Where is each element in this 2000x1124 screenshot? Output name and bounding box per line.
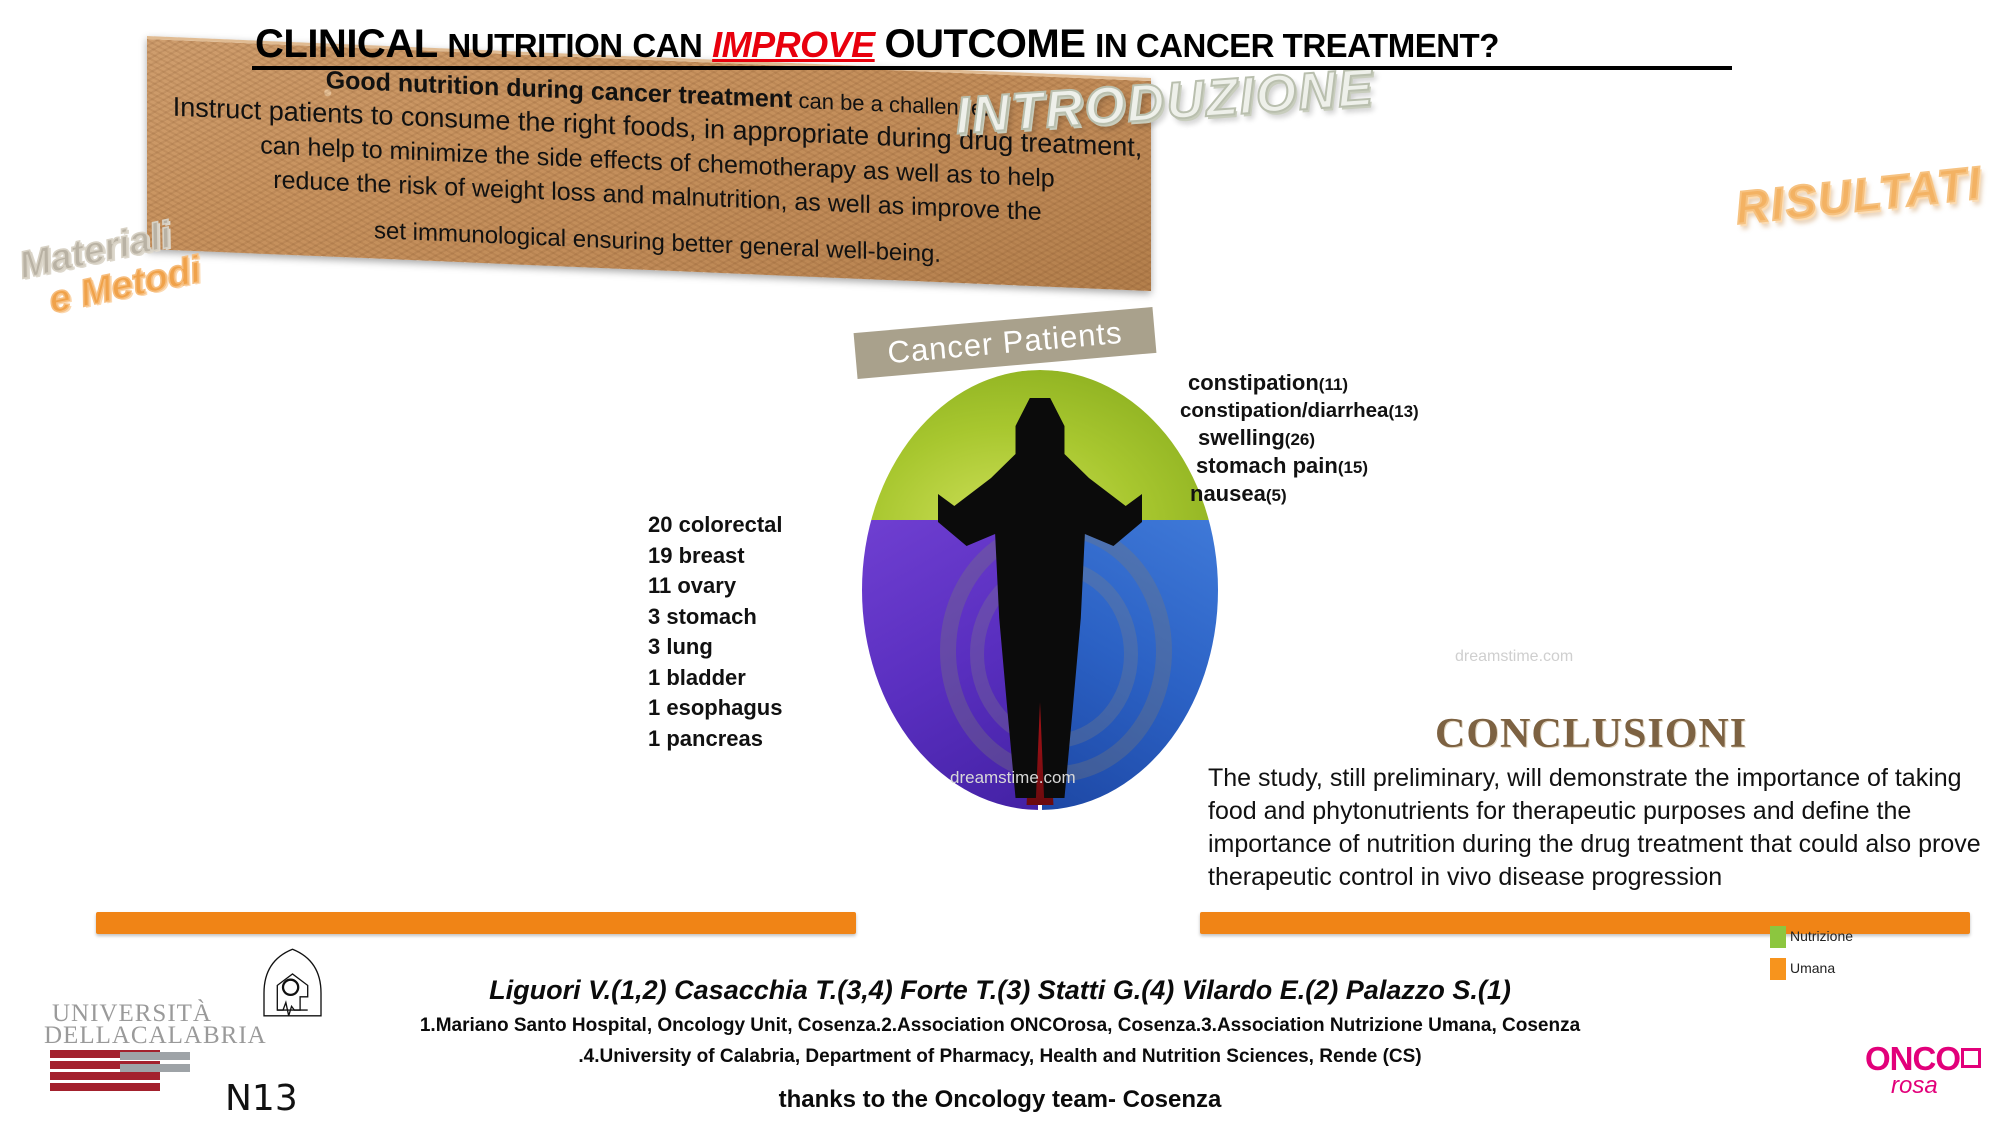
materiali-e-metodi-text: From October 2014 in Oncology-Unit of Co… — [8, 380, 608, 900]
title-part-5: IN CANCER TREATMENT? — [1095, 27, 1499, 64]
title-part-3: CAN — [632, 27, 702, 64]
title-underline — [252, 66, 1732, 70]
poster-root: XVII CONGRESSO NAZIONALE AIOM ROMA21-23O… — [0, 0, 2000, 1124]
cherry-tomato — [1800, 92, 1826, 118]
list-item: nausea(5) — [1180, 481, 1500, 509]
aiom-roman-numeral: XVII — [11, 11, 129, 22]
title-part-4: OUTCOME — [884, 22, 1085, 66]
symptom-count: (13) — [1388, 402, 1418, 421]
introduction-text: Good nutrition during cancer treatment c… — [160, 39, 1155, 287]
dreamstime-watermark: dreamstime.com — [950, 768, 1076, 788]
onco-square-icon — [1961, 1048, 1981, 1068]
symptom-count: (11) — [1319, 375, 1348, 394]
red-apple-photo — [600, 358, 848, 523]
list-item: 3 lung — [648, 632, 878, 663]
list-item: 20 colorectal — [648, 510, 878, 541]
list-item: 1 esophagus — [648, 693, 878, 724]
tumor-type-list: 20 colorectal19 breast11 ovary3 stomach3… — [648, 510, 878, 754]
unical-line-2: DELLACALABRIA — [44, 1022, 267, 1050]
unical-gray-bars — [120, 1052, 190, 1080]
title-improve-emphasis: IMPROVE — [712, 24, 875, 65]
green-apple — [612, 736, 770, 874]
affiliation-line-2: .4.University of Calabria, Department of… — [0, 1046, 2000, 1068]
list-item: constipation(11) — [1180, 370, 1500, 398]
oncorosa-logo: ONCO rosa — [1865, 1040, 1981, 1100]
aiom-subtitle: CONGRESSO NAZIONALE — [11, 23, 129, 41]
aiom-dates: ROMA21-23OTTOBRE2015 — [17, 103, 46, 127]
list-item: 11 ovary — [648, 571, 878, 602]
umana-label: Umana — [1790, 960, 1835, 976]
aiom-caption: Primo Annuncio — [11, 184, 129, 190]
list-item: 3 stomach — [648, 602, 878, 633]
aiom-figure-silhouette — [45, 63, 89, 141]
symptom-count: (5) — [1266, 486, 1287, 505]
rosa-text: rosa — [1891, 1072, 1981, 1100]
fork-handle — [1313, 533, 1440, 605]
title-part-2: NUTRITION — [447, 27, 622, 64]
page-title: CLINICAL NUTRITION CAN IMPROVE OUTCOME I… — [255, 22, 1715, 70]
poster-number: N13 — [225, 1078, 298, 1119]
conclusioni-text: The study, still preliminary, will demon… — [1208, 762, 1998, 894]
list-item: 19 breast — [648, 541, 878, 572]
dreamstime-watermark-2: dreamstime.com — [1455, 648, 1573, 666]
materiali-lead: From October 2014 in Oncology-Unit of — [22, 394, 586, 426]
nutrizione-green-box — [1770, 926, 1786, 948]
aiom-bar — [11, 164, 129, 176]
risultati-text: The nutritional regime was welcomed by p… — [1522, 300, 2000, 672]
nutrizione-umana-logo: Nutrizione Umana — [1770, 926, 1890, 1004]
nutrizione-label: Nutrizione — [1790, 928, 1853, 944]
cherry-tomato — [1830, 120, 1852, 142]
list-item: swelling(26) — [1180, 425, 1500, 453]
aiom-acronym: AIOM — [11, 49, 129, 60]
symptom-list: constipation(11)constipation/diarrhea(13… — [1180, 370, 1500, 509]
symptom-count: (26) — [1285, 430, 1315, 449]
materiali-body: Cosenza, we have started a "Service of N… — [22, 427, 578, 796]
list-item: 1 pancreas — [648, 724, 878, 755]
symptom-count: (15) — [1338, 458, 1368, 477]
university-of-calabria-logo: UNIVERSITÀ DELLACALABRIA — [42, 1000, 262, 1080]
aiom-congress-poster: XVII CONGRESSO NAZIONALE AIOM ROMA21-23O… — [10, 6, 130, 193]
divider-bar-left — [96, 912, 856, 934]
conclusioni-heading: CONCLUSIONI — [1435, 710, 1747, 758]
list-item: 1 bladder — [648, 663, 878, 694]
list-item: constipation/diarrhea(13) — [1180, 398, 1500, 425]
red-apple — [644, 376, 804, 516]
acknowledgement: thanks to the Oncology team- Cosenza — [0, 1086, 2000, 1114]
umana-orange-box — [1770, 958, 1786, 980]
list-item: stomach pain(15) — [1180, 453, 1500, 481]
title-part-1: CLINICAL — [255, 22, 438, 66]
